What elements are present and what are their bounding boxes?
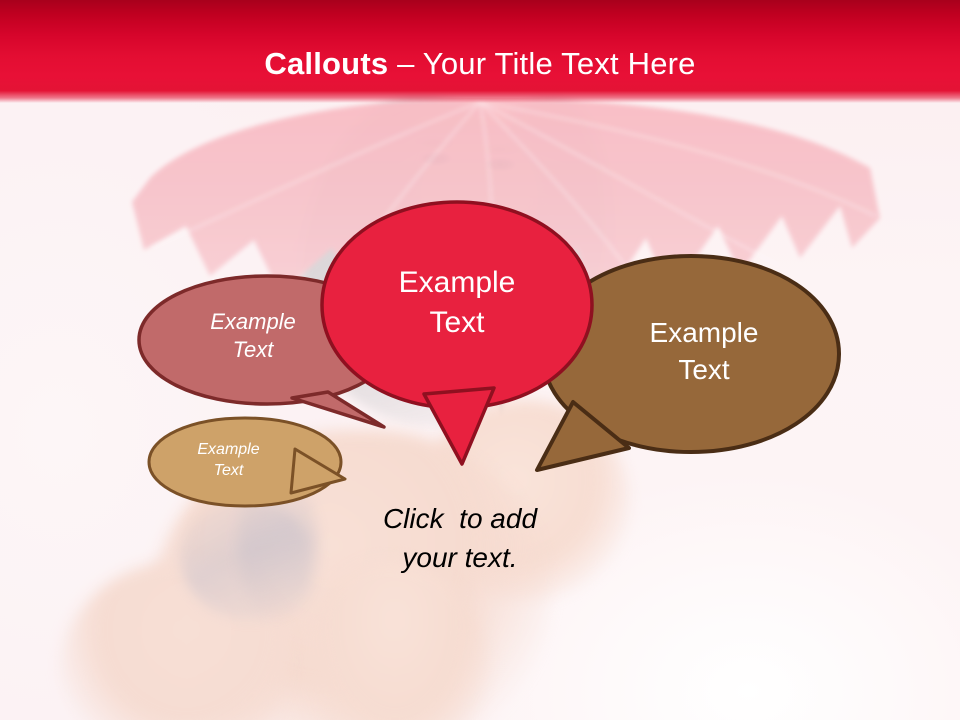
title-bold-part: Callouts xyxy=(264,46,388,81)
callout-bubble-red[interactable]: Example Text xyxy=(318,198,596,470)
title-rest-part: – Your Title Text Here xyxy=(388,46,695,81)
placeholder-line1: Click to add xyxy=(300,500,620,539)
click-to-add-text-placeholder[interactable]: Click to add your text. xyxy=(300,500,620,577)
callout-red-body xyxy=(322,202,592,408)
callout-red-tail xyxy=(424,388,494,464)
page-title: Callouts – Your Title Text Here xyxy=(0,48,960,79)
placeholder-line2: your text. xyxy=(300,539,620,578)
slide-canvas: Callouts – Your Title Text Here Example … xyxy=(0,0,960,720)
title-bar: Callouts – Your Title Text Here xyxy=(0,0,960,103)
